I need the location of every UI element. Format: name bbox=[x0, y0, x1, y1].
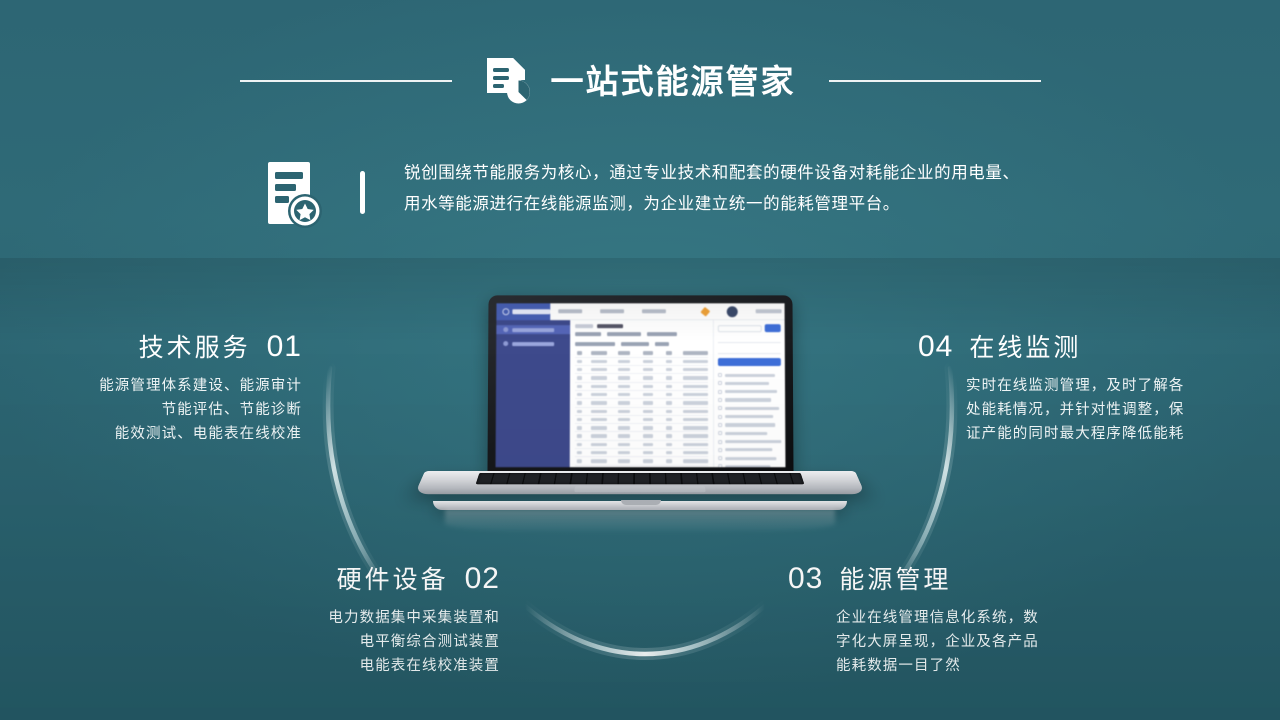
nav-item[interactable] bbox=[600, 309, 624, 313]
checkbox-label bbox=[725, 407, 779, 410]
checkbox-icon[interactable] bbox=[718, 373, 722, 377]
intro-text: 锐创围绕节能服务为核心，通过专业技术和配套的硬件设备对耗能企业的用电量、 用水等… bbox=[404, 158, 1020, 220]
slide-stage: 一站式能源管家 锐创围绕节能服务为核心，通过专业技术和配套的硬件 bbox=[0, 0, 1280, 720]
cell bbox=[666, 459, 672, 462]
search-row[interactable] bbox=[718, 324, 781, 332]
intro-line-1: 锐创围绕节能服务为核心，通过专业技术和配套的硬件设备对耗能企业的用电量、 bbox=[404, 158, 1020, 189]
checkbox-icon[interactable] bbox=[718, 440, 722, 444]
feature-block-02: 硬件设备 02 电力数据集中采集装置和 电平衡综合测试装置 电能表在线校准装置 bbox=[0, 560, 500, 678]
table-row[interactable] bbox=[575, 399, 708, 407]
cell bbox=[683, 426, 708, 429]
cell bbox=[643, 459, 652, 462]
checkbox-icon[interactable] bbox=[718, 448, 722, 452]
feature-description: 能源管理体系建设、能源审计 节能评估、节能诊断 能效测试、电能表在线校准 bbox=[0, 374, 302, 446]
feature-number: 01 bbox=[267, 330, 302, 364]
table-row[interactable] bbox=[575, 358, 708, 366]
feature-line: 处能耗情况，并针对性调整，保 bbox=[966, 398, 1184, 422]
breadcrumb bbox=[575, 324, 708, 327]
checkbox-icon[interactable] bbox=[718, 381, 722, 385]
column-header bbox=[577, 352, 582, 355]
checkbox-item[interactable] bbox=[718, 404, 781, 412]
cell bbox=[577, 451, 582, 454]
cell bbox=[591, 459, 607, 462]
checkbox-icon[interactable] bbox=[718, 431, 722, 435]
cell bbox=[643, 434, 652, 437]
feature-description: 电力数据集中采集装置和 电平衡综合测试装置 电能表在线校准装置 bbox=[0, 606, 500, 678]
cell bbox=[643, 418, 652, 421]
checkbox-label bbox=[725, 457, 776, 460]
data-table bbox=[575, 350, 708, 468]
feature-line: 电能表在线校准装置 bbox=[0, 654, 500, 678]
feature-number: 03 bbox=[788, 562, 823, 596]
checkbox-item[interactable] bbox=[718, 396, 781, 404]
cell bbox=[666, 360, 672, 363]
cell bbox=[683, 368, 708, 371]
cell bbox=[683, 434, 708, 437]
edit-pencil-icon[interactable] bbox=[700, 306, 710, 316]
sidebar-bullet-icon bbox=[503, 327, 508, 332]
feature-line: 能耗数据一目了然 bbox=[836, 654, 1039, 678]
column-header bbox=[643, 352, 652, 355]
divider-line-right-icon bbox=[829, 80, 1041, 82]
breadcrumb-item-current bbox=[597, 324, 623, 327]
brand: 一站式能源管家 bbox=[483, 55, 796, 107]
search-button[interactable] bbox=[765, 324, 781, 332]
checkbox-item[interactable] bbox=[718, 412, 781, 420]
sidebar-item-label bbox=[512, 328, 554, 332]
side-filter-panel bbox=[713, 320, 786, 467]
checkbox-item[interactable] bbox=[718, 371, 781, 379]
cell bbox=[591, 451, 607, 454]
cell bbox=[683, 393, 708, 396]
cell bbox=[666, 368, 672, 371]
cell bbox=[577, 418, 582, 421]
cell bbox=[591, 385, 607, 388]
checkbox-icon[interactable] bbox=[718, 423, 722, 427]
checkbox-icon[interactable] bbox=[718, 415, 722, 419]
cell bbox=[643, 360, 652, 363]
cell bbox=[577, 385, 582, 388]
cell bbox=[577, 426, 582, 429]
feature-heading: 技术服务 01 bbox=[0, 328, 302, 364]
feature-block-04: 04 在线监测 实时在线监测管理，及时了解各 处能耗情况，并针对性调整，保 证产… bbox=[918, 328, 1184, 446]
checkbox-item[interactable] bbox=[718, 429, 781, 437]
cell bbox=[591, 360, 607, 363]
cell bbox=[666, 434, 672, 437]
cell bbox=[666, 393, 672, 396]
feature-heading: 03 能源管理 bbox=[788, 560, 1039, 596]
cell bbox=[618, 385, 630, 388]
feature-heading: 04 在线监测 bbox=[918, 328, 1184, 364]
cell bbox=[618, 459, 630, 462]
feature-block-01: 技术服务 01 能源管理体系建设、能源审计 节能评估、节能诊断 能效测试、电能表… bbox=[0, 328, 302, 446]
nav-item[interactable] bbox=[642, 309, 666, 313]
cell bbox=[577, 368, 582, 371]
checkbox-icon[interactable] bbox=[718, 456, 722, 460]
checkbox-item[interactable] bbox=[718, 379, 781, 387]
laptop-trackpad bbox=[574, 486, 706, 492]
laptop-reflection bbox=[445, 509, 835, 533]
cell bbox=[666, 451, 672, 454]
feature-description: 企业在线管理信息化系统，数 字化大屏呈现，企业及各产品 能耗数据一目了然 bbox=[836, 606, 1039, 678]
dashboard-logo bbox=[496, 303, 550, 320]
document-star-icon bbox=[265, 160, 331, 232]
cell bbox=[618, 451, 630, 454]
cell bbox=[577, 401, 582, 404]
sidebar-bullet-icon bbox=[503, 341, 508, 346]
table-header-row bbox=[575, 350, 708, 358]
dashboard-nav[interactable] bbox=[550, 303, 785, 320]
feature-line: 证产能的同时最大程序降低能耗 bbox=[966, 422, 1184, 446]
cell bbox=[591, 393, 607, 396]
checkbox-label bbox=[725, 374, 775, 377]
primary-action-button[interactable] bbox=[718, 358, 781, 366]
cell bbox=[618, 401, 630, 404]
dashboard-main bbox=[570, 320, 786, 467]
column-header bbox=[618, 352, 630, 355]
divider-line-left-icon bbox=[240, 80, 452, 82]
cell bbox=[643, 368, 652, 371]
checkbox-icon[interactable] bbox=[718, 406, 722, 410]
checkbox-item[interactable] bbox=[718, 388, 781, 396]
cell bbox=[683, 459, 708, 462]
cell bbox=[643, 443, 652, 446]
cell bbox=[591, 426, 607, 429]
macbook-laptop bbox=[425, 295, 855, 530]
column-header bbox=[666, 352, 672, 355]
cell bbox=[618, 376, 630, 379]
user-name bbox=[756, 309, 782, 313]
cell bbox=[666, 410, 672, 413]
checkbox-label bbox=[725, 423, 775, 426]
cell bbox=[643, 401, 652, 404]
data-table-panel bbox=[570, 320, 713, 467]
filter-chip[interactable] bbox=[607, 332, 641, 336]
checkbox-item[interactable] bbox=[718, 446, 781, 454]
cell bbox=[643, 393, 652, 396]
cell bbox=[666, 418, 672, 421]
table-row[interactable] bbox=[575, 424, 708, 432]
cell bbox=[666, 443, 672, 446]
table-row[interactable] bbox=[575, 383, 708, 391]
search-input[interactable] bbox=[718, 325, 762, 332]
cell bbox=[577, 434, 582, 437]
filter-bar[interactable] bbox=[575, 332, 708, 346]
filter-chip[interactable] bbox=[575, 332, 601, 336]
cell bbox=[577, 443, 582, 446]
cell bbox=[591, 368, 607, 371]
header-band: 一站式能源管家 锐创围绕节能服务为核心，通过专业技术和配套的硬件 bbox=[0, 0, 1280, 258]
page-title: 一站式能源管家 bbox=[551, 65, 796, 98]
intro-line-2: 用水等能源进行在线能源监测，为企业建立统一的能耗管理平台。 bbox=[404, 189, 1020, 220]
sidebar-item[interactable] bbox=[496, 325, 570, 334]
cell bbox=[577, 360, 582, 363]
checkbox-label bbox=[725, 432, 767, 435]
cell bbox=[666, 401, 672, 404]
table-row[interactable] bbox=[575, 374, 708, 382]
cell bbox=[666, 385, 672, 388]
checkbox-label bbox=[725, 390, 777, 393]
checkbox-item[interactable] bbox=[718, 421, 781, 429]
feature-description: 实时在线监测管理，及时了解各 处能耗情况，并针对性调整，保 证产能的同时最大程序… bbox=[966, 374, 1184, 446]
table-row[interactable] bbox=[575, 366, 708, 374]
cell bbox=[683, 376, 708, 379]
feature-line: 电平衡综合测试装置 bbox=[0, 630, 500, 654]
feature-line: 企业在线管理信息化系统，数 bbox=[836, 606, 1039, 630]
feature-line: 节能评估、节能诊断 bbox=[0, 398, 302, 422]
cell bbox=[683, 418, 708, 421]
sidebar-item[interactable] bbox=[496, 339, 570, 348]
checkbox-label bbox=[725, 440, 781, 443]
laptop-notch bbox=[621, 500, 661, 505]
table-row[interactable] bbox=[575, 466, 708, 467]
dashboard-body bbox=[496, 320, 786, 467]
filter-chip[interactable] bbox=[647, 332, 677, 336]
cell bbox=[643, 385, 652, 388]
feature-number: 04 bbox=[918, 330, 953, 364]
checkbox-item[interactable] bbox=[718, 462, 781, 467]
dashboard-sidebar[interactable] bbox=[496, 320, 571, 467]
cell bbox=[591, 401, 607, 404]
column-header bbox=[683, 352, 708, 355]
feature-line: 能源管理体系建设、能源审计 bbox=[0, 374, 302, 398]
checkbox-label bbox=[725, 415, 773, 418]
laptop-lid bbox=[487, 295, 793, 475]
filter-chip[interactable] bbox=[575, 342, 615, 346]
cell bbox=[683, 385, 708, 388]
cell bbox=[683, 360, 708, 363]
dashboard-logo-text bbox=[512, 309, 550, 314]
dashboard-topbar bbox=[496, 303, 784, 320]
table-row[interactable] bbox=[575, 416, 708, 424]
cell bbox=[643, 376, 652, 379]
feature-line: 字化大屏呈现，企业及各产品 bbox=[836, 630, 1039, 654]
laptop-keyboard bbox=[476, 473, 805, 484]
breadcrumb-item[interactable] bbox=[575, 324, 593, 327]
dashboard-logo-mark bbox=[502, 308, 509, 315]
cell bbox=[618, 418, 630, 421]
title-row: 一站式能源管家 bbox=[0, 50, 1280, 112]
checkbox-item[interactable] bbox=[718, 437, 781, 445]
cell bbox=[577, 393, 582, 396]
table-row[interactable] bbox=[575, 391, 708, 399]
intro-block: 锐创围绕节能服务为核心，通过专业技术和配套的硬件设备对耗能企业的用电量、 用水等… bbox=[265, 158, 1020, 232]
cell bbox=[666, 376, 672, 379]
avatar[interactable] bbox=[727, 306, 738, 317]
cell bbox=[577, 376, 582, 379]
cell bbox=[577, 459, 582, 462]
feature-block-03: 03 能源管理 企业在线管理信息化系统，数 字化大屏呈现，企业及各产品 能耗数据… bbox=[788, 560, 1039, 678]
feature-number: 02 bbox=[465, 562, 500, 596]
sidebar-item-label bbox=[512, 342, 554, 346]
filter-chip[interactable] bbox=[655, 342, 669, 346]
cell bbox=[683, 443, 708, 446]
table-row[interactable] bbox=[575, 408, 708, 416]
feature-name: 在线监测 bbox=[969, 328, 1081, 364]
feature-name: 能源管理 bbox=[839, 560, 951, 596]
feature-name: 硬件设备 bbox=[337, 560, 449, 596]
table-row[interactable] bbox=[575, 441, 708, 449]
select-field[interactable] bbox=[718, 347, 781, 354]
cell bbox=[683, 410, 708, 413]
cell bbox=[643, 426, 652, 429]
cell bbox=[618, 443, 630, 446]
cell bbox=[683, 401, 708, 404]
cell bbox=[618, 410, 630, 413]
cell bbox=[591, 434, 607, 437]
cell bbox=[683, 451, 708, 454]
checkbox-label bbox=[725, 448, 772, 451]
cell bbox=[618, 426, 630, 429]
table-row[interactable] bbox=[575, 449, 708, 457]
feature-heading: 硬件设备 02 bbox=[0, 560, 500, 596]
checkbox-label bbox=[725, 398, 771, 401]
feature-line: 能效测试、电能表在线校准 bbox=[0, 422, 302, 446]
checkbox-icon[interactable] bbox=[718, 465, 722, 468]
cell bbox=[618, 368, 630, 371]
checkbox-icon[interactable] bbox=[718, 390, 722, 394]
feature-line: 电力数据集中采集装置和 bbox=[0, 606, 500, 630]
cell bbox=[591, 410, 607, 413]
cell bbox=[643, 410, 652, 413]
select-field[interactable] bbox=[718, 336, 781, 343]
table-row[interactable] bbox=[575, 433, 708, 441]
checkbox-label bbox=[725, 382, 769, 385]
cell bbox=[618, 393, 630, 396]
vertical-bar-divider bbox=[360, 171, 365, 214]
feature-line: 实时在线监测管理，及时了解各 bbox=[966, 374, 1184, 398]
table-row[interactable] bbox=[575, 458, 708, 466]
cell bbox=[643, 451, 652, 454]
document-pie-chart-icon bbox=[483, 55, 533, 107]
cell bbox=[591, 418, 607, 421]
checkbox-label bbox=[725, 465, 770, 467]
filter-chip[interactable] bbox=[621, 342, 649, 346]
laptop-base bbox=[415, 471, 866, 494]
checkbox-icon[interactable] bbox=[718, 398, 722, 402]
cell bbox=[591, 443, 607, 446]
cell bbox=[577, 410, 582, 413]
laptop-screen bbox=[496, 303, 786, 467]
cell bbox=[618, 434, 630, 437]
nav-item[interactable] bbox=[558, 309, 582, 313]
cell bbox=[591, 376, 607, 379]
feature-name: 技术服务 bbox=[139, 328, 251, 364]
cell bbox=[666, 426, 672, 429]
checkbox-item[interactable] bbox=[718, 454, 781, 462]
column-header bbox=[591, 352, 607, 355]
cell bbox=[618, 360, 630, 363]
